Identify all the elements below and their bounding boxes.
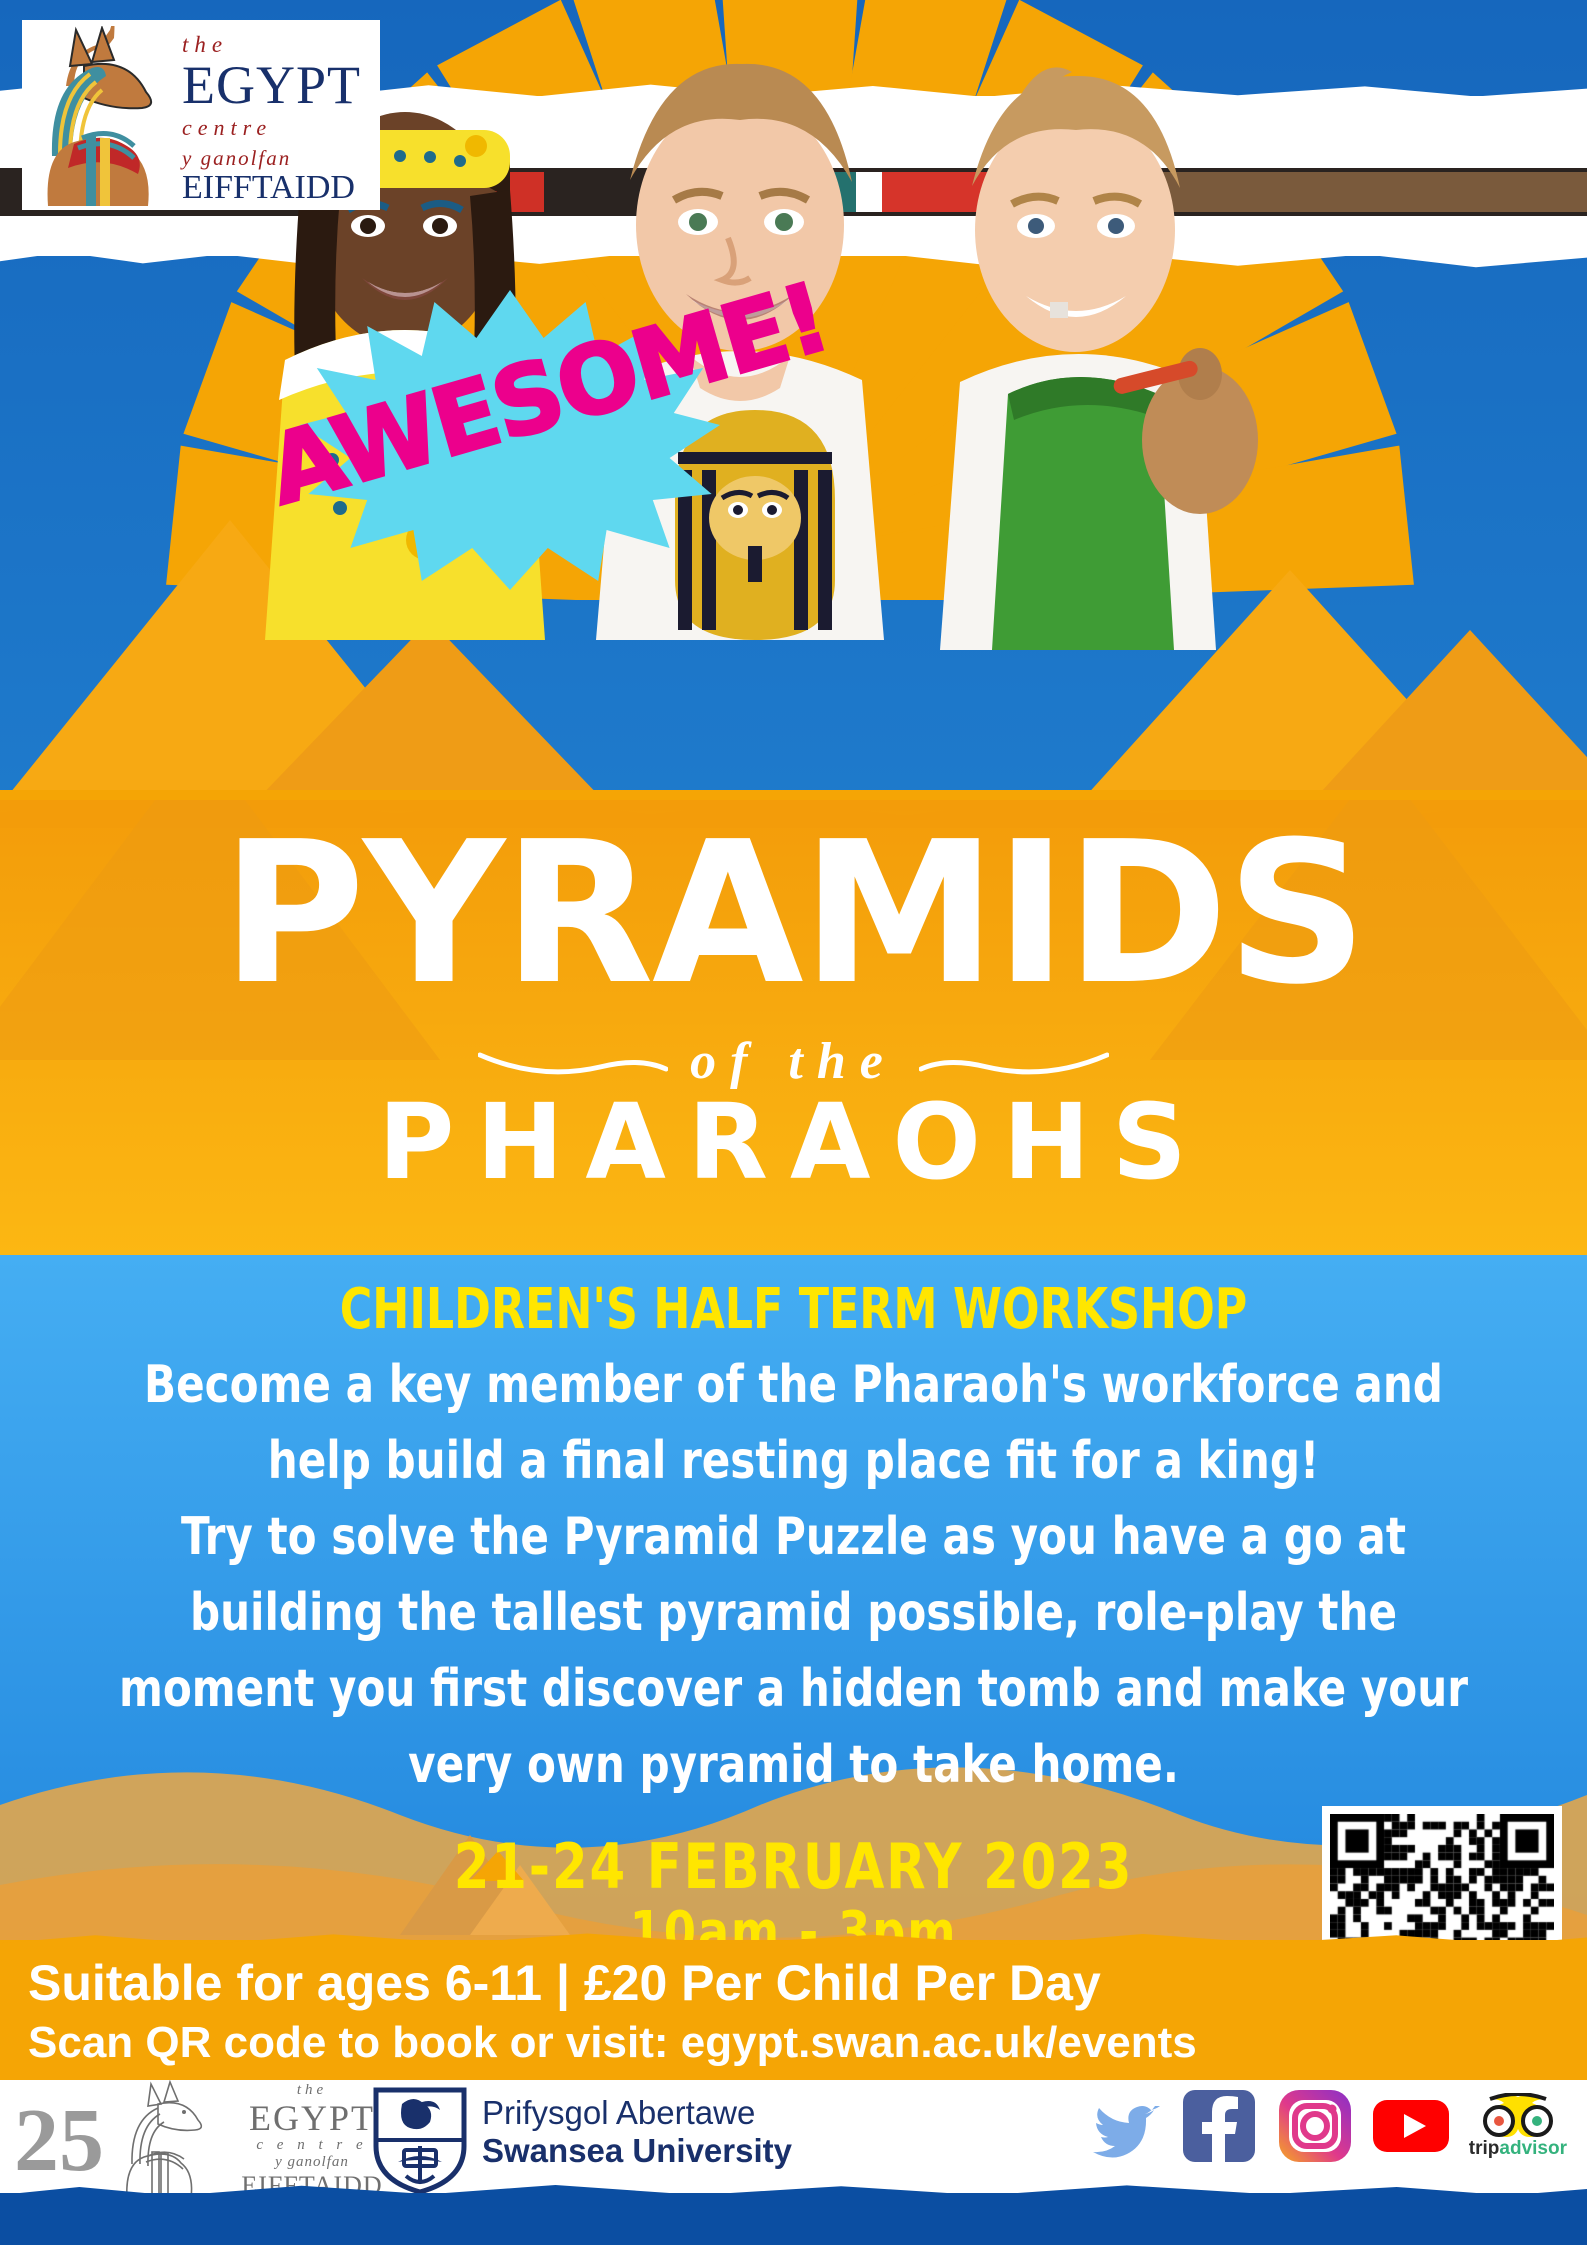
page-title: PYRAMIDS — [0, 816, 1587, 1012]
awesome-badge: AWESOME! — [300, 290, 720, 590]
twitter-icon[interactable] — [1085, 2088, 1161, 2164]
page-subtitle: PHARAOHS — [0, 1090, 1587, 1194]
tripadvisor-logo[interactable]: tripadvisor — [1469, 2093, 1567, 2159]
social-links: tripadvisor — [1085, 2088, 1567, 2164]
logo-egypt: EGYPT — [182, 58, 380, 112]
description-line: building the tallest pyramid possible, r… — [79, 1575, 1507, 1651]
workshop-description: Become a key member of the Pharaoh's wor… — [0, 1347, 1587, 1803]
tripadvisor-icon[interactable] — [1476, 2093, 1560, 2139]
anubis-icon — [34, 26, 184, 206]
footer: 25 the EGYPT c e n t r e y ganolfan EIFF… — [0, 2080, 1587, 2245]
swansea-university-crest-icon — [368, 2084, 472, 2196]
workshop-headline: CHILDREN'S HALF TERM WORKSHOP — [95, 1277, 1492, 1342]
logo-eifftaidd: EIFFTAIDD — [182, 171, 380, 205]
logo-y-ganolfan: y ganolfan — [182, 146, 380, 171]
pricing-band: Suitable for ages 6-11 | £20 Per Child P… — [0, 1940, 1587, 2080]
swansea-university-wordmark: Prifysgol Abertawe Swansea University — [482, 2094, 792, 2170]
pricing-text: Suitable for ages 6-11 | £20 Per Child P… — [28, 1954, 1101, 2012]
hero-photo-band: AWESOME! the — [0, 0, 1587, 880]
description-line: Try to solve the Pyramid Puzzle as you h… — [79, 1499, 1507, 1575]
description-line: moment you first discover a hidden tomb … — [79, 1651, 1507, 1727]
university-name-cy: Prifysgol Abertawe — [482, 2094, 792, 2132]
swoosh-right-icon — [919, 1049, 1109, 1075]
tripadvisor-trip: trip — [1469, 2138, 1500, 2159]
instagram-icon[interactable] — [1277, 2088, 1353, 2164]
swoosh-left-icon — [478, 1049, 668, 1075]
egypt-centre-logo: the EGYPT centre y ganolfan EIFFTAIDD — [22, 20, 380, 210]
youtube-icon[interactable] — [1373, 2088, 1449, 2164]
child-photo-boy-right — [900, 10, 1300, 650]
event-date: 21-24 FEBRUARY 2023 — [63, 1830, 1523, 1903]
description-line: very own pyramid to take home. — [79, 1727, 1507, 1803]
facebook-icon[interactable] — [1181, 2088, 1257, 2164]
booking-text[interactable]: Scan QR code to book or visit: egypt.swa… — [28, 2018, 1197, 2068]
anniversary-25-logo: 25 — [14, 2086, 134, 2196]
description-line: Become a key member of the Pharaoh's wor… — [79, 1347, 1507, 1423]
anubis-icon — [118, 2080, 228, 2200]
poster: AWESOME! the — [0, 0, 1587, 2245]
logo-centre: centre — [182, 115, 380, 141]
title-block: PYRAMIDS of the PHARAOHS — [0, 800, 1587, 1270]
egypt-centre-wordmark: the EGYPT centre y ganolfan EIFFTAIDD — [182, 28, 380, 208]
description-line: help build a final resting place fit for… — [79, 1423, 1507, 1499]
university-name-en: Swansea University — [482, 2132, 792, 2170]
footer-blue-bar — [0, 2193, 1587, 2245]
tripadvisor-advisor: advisor — [1499, 2138, 1567, 2159]
